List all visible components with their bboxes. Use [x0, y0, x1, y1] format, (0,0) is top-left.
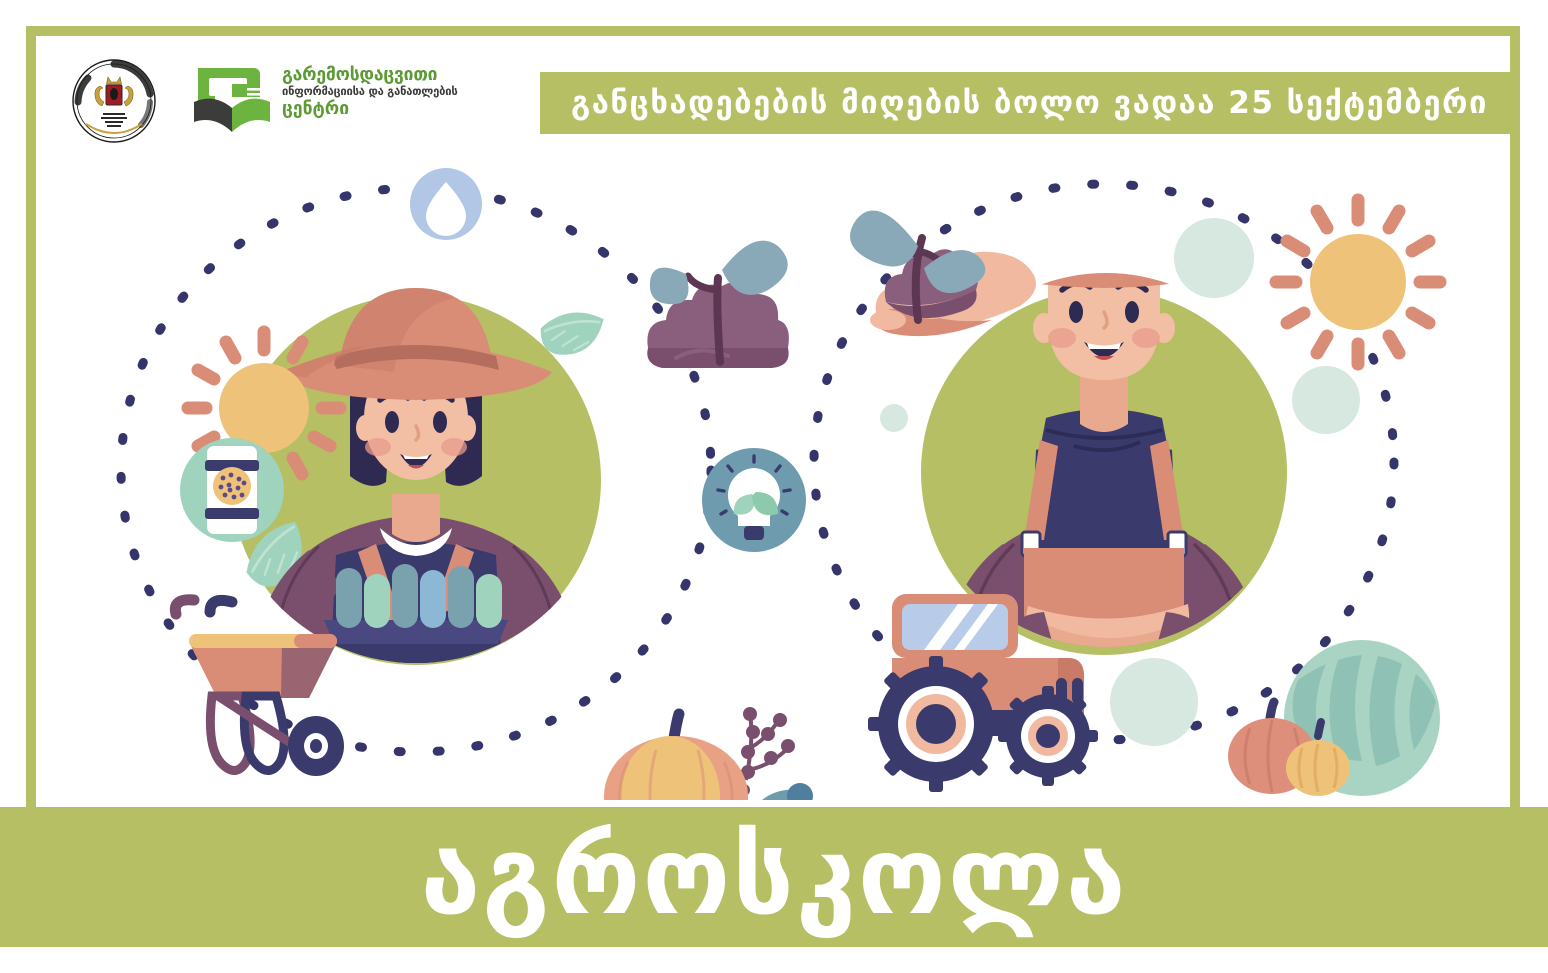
lightbulb-leaf-icon: [702, 448, 806, 552]
seed-jar-icon: [180, 438, 284, 542]
sun-icon: [1276, 200, 1440, 364]
watermelon-icon: [1228, 640, 1440, 796]
poster-root: გარემოსდაცვითი ინფორმაციისა და განათლები…: [0, 0, 1548, 973]
georgia-state-emblem: [72, 58, 156, 144]
decorative-circle: [1174, 218, 1254, 298]
logo-line-3: ცენტრი: [282, 100, 432, 118]
pumpkin-icon: [604, 707, 813, 800]
water-drop-icon: [410, 168, 482, 240]
deadline-banner: განცხადებების მიღების ბოლო ვადაა 25 სექტ…: [540, 72, 1519, 134]
logo-line-2: ინფორმაციისა და განათლების: [282, 86, 432, 99]
organization-logo: გარემოსდაცვითი ინფორმაციისა და განათლები…: [192, 62, 432, 140]
decorative-circle: [880, 404, 908, 432]
illustration-svg: [36, 150, 1512, 800]
logo-line-1: გარემოსდაცვითი: [282, 66, 432, 84]
poster-title: აგროსკოლა: [0, 807, 1548, 947]
sprout-soil-icon: [647, 241, 789, 368]
logo-mark-icon: [192, 62, 274, 138]
decorative-circle: [1110, 658, 1198, 746]
illustration-stage: [36, 150, 1512, 800]
deadline-banner-text: განცხადებების მიღების ბოლო ვადაა 25 სექტ…: [571, 85, 1488, 121]
decorative-circle: [1292, 366, 1360, 434]
